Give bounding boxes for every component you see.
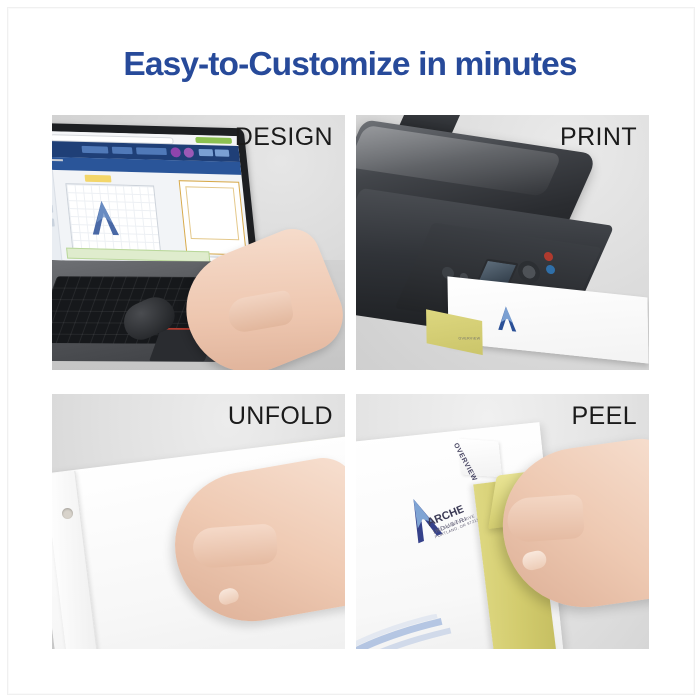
printer-wifi-button xyxy=(546,264,555,274)
step-label-print: PRINT xyxy=(560,123,637,152)
step-label-unfold: UNFOLD xyxy=(228,402,333,431)
printed-tab-label: OVERVIEW xyxy=(458,337,480,341)
step-label-peel: PEEL xyxy=(571,402,637,431)
step-panel-unfold: UNFOLD xyxy=(52,394,345,649)
preview-text-line xyxy=(52,159,63,162)
laptop-illustration xyxy=(52,115,337,370)
step-panel-print: OVERVIEW PRINT xyxy=(356,115,649,370)
primary-action-button xyxy=(195,137,232,144)
step-panel-peel: OVERVIEW ARCHET INDUSTRIES 1163 SKYWAY D… xyxy=(356,394,649,649)
toolbar-chip xyxy=(215,149,230,156)
preview-page xyxy=(185,186,239,240)
fingernail xyxy=(217,586,241,606)
thumb xyxy=(226,290,295,335)
step-panel-design: DESIGN xyxy=(52,115,345,370)
steps-grid: DESIGN xyxy=(52,115,649,649)
laptop-screen xyxy=(52,130,251,265)
toolbar-chip xyxy=(198,149,213,156)
canvas-tab-marker xyxy=(85,175,112,183)
index-finger xyxy=(192,523,279,569)
toolbar-chip xyxy=(82,146,109,154)
thumbnail xyxy=(521,549,549,572)
preview-panel xyxy=(179,180,247,255)
page-title: Easy-to-Customize in minutes xyxy=(0,46,700,84)
toolbar-chip xyxy=(112,147,133,154)
step-label-design: DESIGN xyxy=(235,123,333,152)
printed-logo-artwork xyxy=(492,303,522,334)
thumb xyxy=(506,494,585,543)
product-feature-image: Easy-to-Customize in minutes xyxy=(0,0,700,700)
decorative-swirl-artwork xyxy=(356,611,470,649)
toolbar-chip xyxy=(136,147,167,155)
left-tool-panel xyxy=(52,169,62,260)
punch-hole xyxy=(62,508,73,519)
printer-power-button xyxy=(544,251,553,261)
canvas-logo-artwork xyxy=(81,197,128,238)
